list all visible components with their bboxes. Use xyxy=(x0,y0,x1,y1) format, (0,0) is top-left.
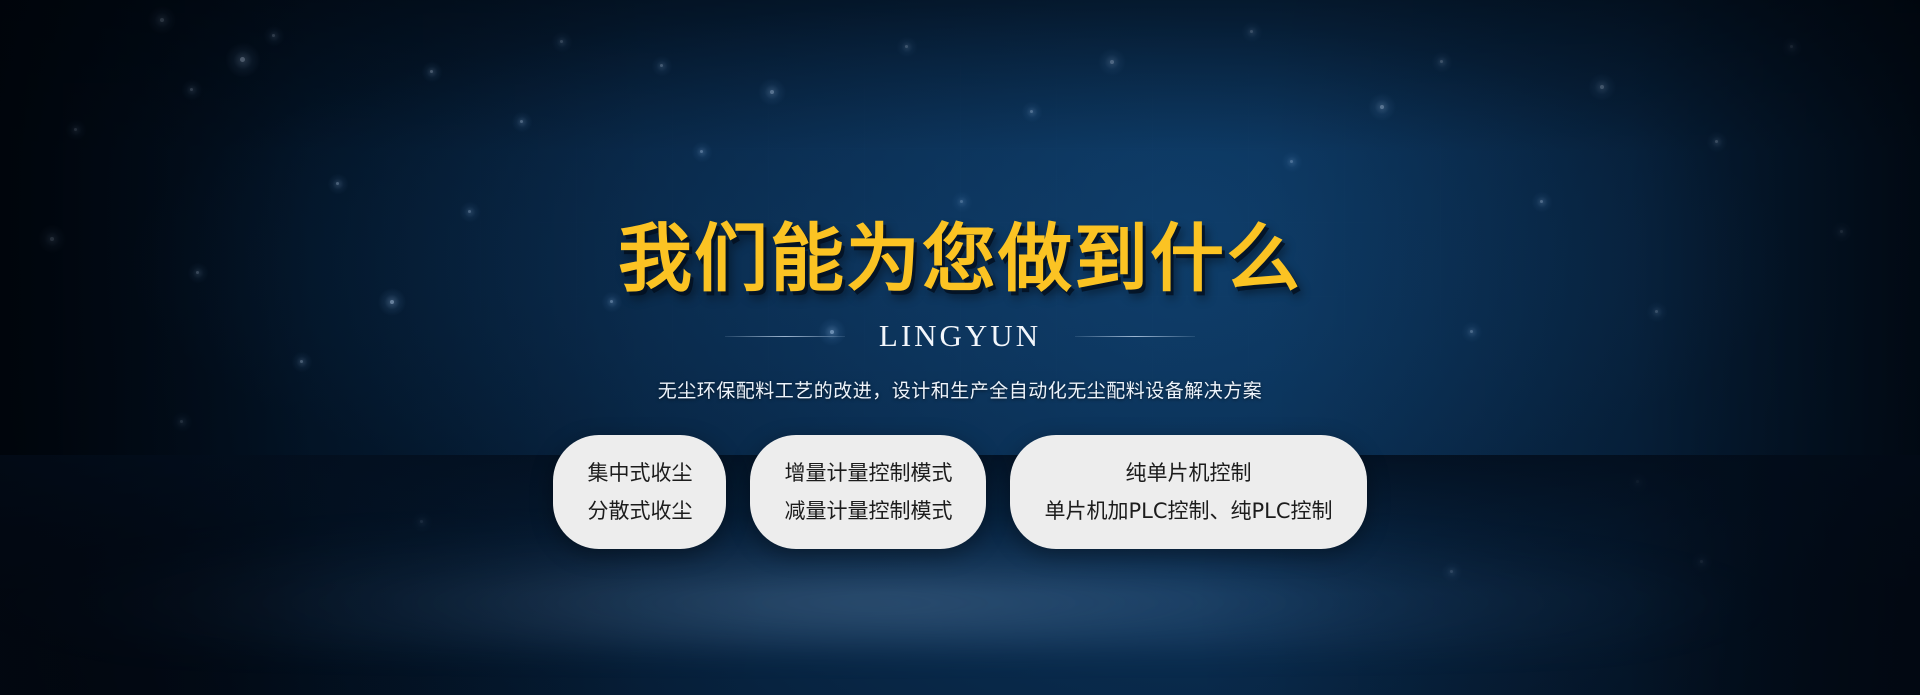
card-line: 纯单片机控制 xyxy=(1044,461,1332,485)
card-line: 单片机加PLC控制、纯PLC控制 xyxy=(1044,499,1332,523)
hero-banner: 我们能为您做到什么 LINGYUN 无尘环保配料工艺的改进，设计和生产全自动化无… xyxy=(0,0,1920,695)
brand-subtitle: LINGYUN xyxy=(879,318,1041,354)
feature-card-metering-mode[interactable]: 增量计量控制模式 减量计量控制模式 xyxy=(750,435,986,549)
card-line: 减量计量控制模式 xyxy=(784,499,952,523)
divider-line-right xyxy=(1075,336,1195,337)
card-line: 集中式收尘 xyxy=(587,461,692,485)
feature-card-dust-collection[interactable]: 集中式收尘 分散式收尘 xyxy=(553,435,726,549)
feature-card-list: 集中式收尘 分散式收尘 增量计量控制模式 减量计量控制模式 纯单片机控制 单片机… xyxy=(553,435,1366,549)
subtitle-row: LINGYUN xyxy=(725,318,1195,354)
card-line: 分散式收尘 xyxy=(587,499,692,523)
banner-content: 我们能为您做到什么 LINGYUN 无尘环保配料工艺的改进，设计和生产全自动化无… xyxy=(0,0,1920,695)
divider-line-left xyxy=(725,336,845,337)
page-title: 我们能为您做到什么 xyxy=(618,222,1302,296)
banner-description: 无尘环保配料工艺的改进，设计和生产全自动化无尘配料设备解决方案 xyxy=(658,376,1263,403)
card-line: 增量计量控制模式 xyxy=(784,461,952,485)
feature-card-control-system[interactable]: 纯单片机控制 单片机加PLC控制、纯PLC控制 xyxy=(1010,435,1366,549)
